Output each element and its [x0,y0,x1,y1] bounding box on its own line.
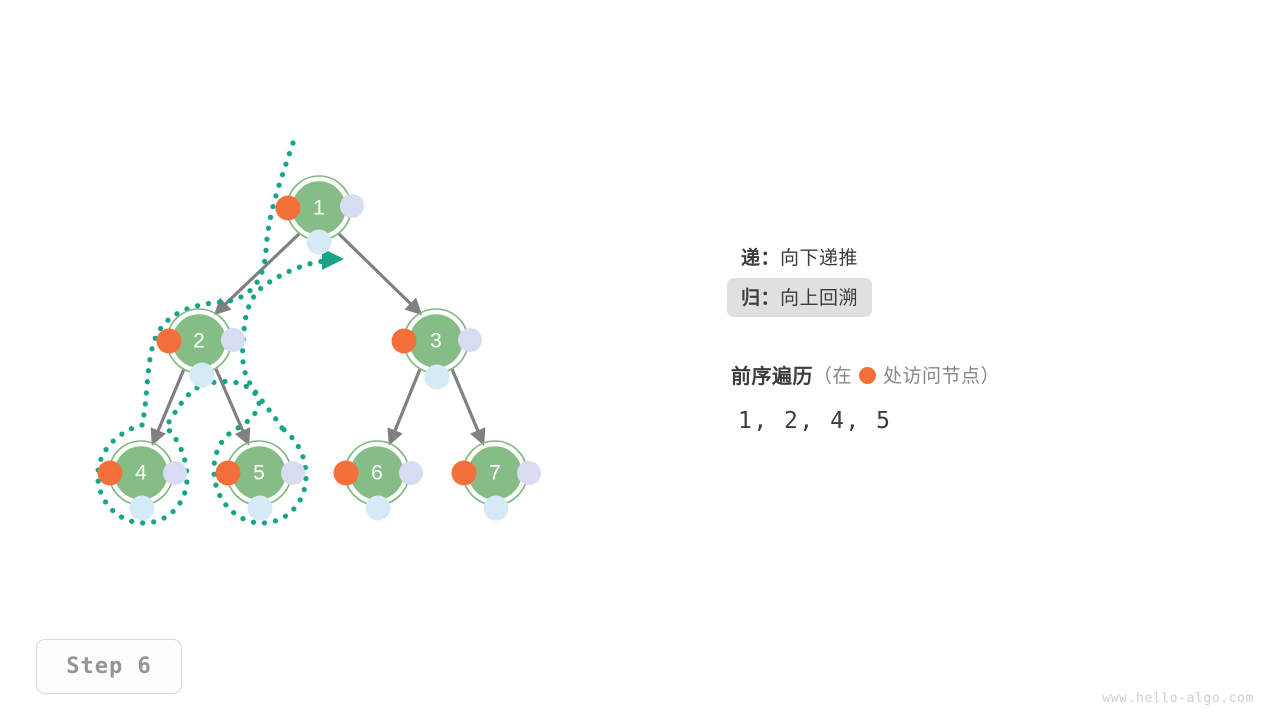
node-label: 1 [313,197,325,220]
node-visit-dot [216,461,241,486]
node-bottom-dot [130,496,155,521]
legend-row-backtrack: 归： 向上回溯 [727,278,1227,316]
node-label: 3 [430,330,442,353]
traversal-note-before: （在 [813,361,852,388]
edge-3-7 [452,369,483,443]
node-right-dot [399,461,423,485]
visit-dot-icon [859,367,876,384]
node-label: 4 [135,462,147,485]
node-label: 2 [193,330,205,353]
legend-chip-backtrack: 归： 向上回溯 [727,278,872,317]
node-bottom-dot [190,363,215,388]
node-bottom-dot [366,496,391,521]
node-right-dot [281,461,305,485]
traversal-heading: 前序遍历 （在 处访问节点） [731,360,1000,389]
node-right-dot [340,194,364,218]
tree-node-7[interactable]: 7 [452,441,542,521]
legend-row-recurse: 递： 向下递推 [727,238,1227,276]
node-label: 7 [489,462,501,485]
edge-3-6 [390,369,420,443]
node-visit-dot [392,329,417,354]
tree-diagram: 1 2 3 4 [0,0,1280,720]
node-visit-dot [157,329,182,354]
traversal-note: （在 处访问节点） [813,361,1000,388]
step-badge: Step 6 [36,639,182,694]
tree-nodes: 1 2 3 4 [98,176,542,521]
node-visit-dot [334,461,359,486]
traversal-note-after: 处访问节点） [883,361,1000,388]
edge-2-5 [216,369,248,443]
node-bottom-dot [307,230,332,255]
node-visit-dot [98,461,123,486]
legend-key-backtrack: 归： [741,283,780,310]
node-bottom-dot [425,365,450,390]
traversal-title: 前序遍历 [731,360,813,389]
node-right-dot [221,328,245,352]
node-visit-dot [276,196,301,221]
node-right-dot [458,328,482,352]
node-right-dot [517,461,541,485]
legend-chip-recurse: 递： 向下递推 [727,238,872,277]
node-right-dot [163,461,187,485]
edge-1-3 [338,233,420,313]
legend-value-backtrack: 向上回溯 [780,283,858,310]
node-bottom-dot [248,496,273,521]
node-visit-dot [452,461,477,486]
node-bottom-dot [484,496,509,521]
tree-node-3[interactable]: 3 [392,309,483,390]
legend-panel: 递： 向下递推 归： 向上回溯 [727,238,1227,318]
node-label: 6 [371,462,383,485]
trace-segment-return-to-root [243,261,324,428]
legend-key-recurse: 递： [741,243,780,270]
node-label: 5 [253,462,265,485]
watermark: www.hello-algo.com [1102,691,1254,706]
tree-node-6[interactable]: 6 [334,441,424,521]
traversal-sequence: 1, 2, 4, 5 [738,408,891,434]
legend-value-recurse: 向下递推 [780,243,858,270]
